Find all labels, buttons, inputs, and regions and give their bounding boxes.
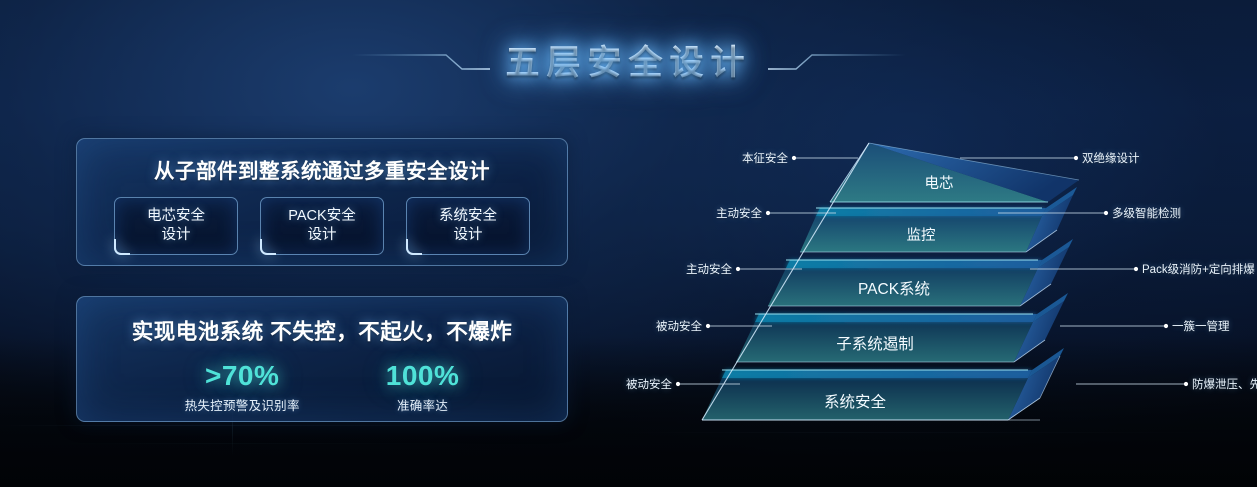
- stat-thermal-warning: >70% 热失控预警及识别率: [185, 360, 300, 414]
- panel-top-heading: 从子部件到整系统通过多重安全设计: [77, 154, 567, 184]
- corner-accent-icon: [406, 239, 422, 255]
- stat-caption: 准确率达: [386, 395, 460, 414]
- design-card-row: 电芯安全 设计 PACK安全 设计 系统安全 设计: [77, 197, 567, 255]
- stat-accuracy: 100% 准确率达: [386, 360, 460, 414]
- pyramid-right-label-4: 一簇一管理: [1172, 318, 1230, 334]
- background-streak: [0, 425, 520, 426]
- slide-background: 五层安全设计 从子部件到整系统通过多重安全设计 电芯安全 设计: [0, 0, 1257, 487]
- title-block: 五层安全设计: [0, 30, 1257, 88]
- stat-caption: 热失控预警及识别率: [185, 395, 300, 414]
- background-streak: [60, 443, 490, 444]
- svg-text:监控: 监控: [907, 227, 936, 244]
- pyramid-left-label-3: 主动安全: [686, 261, 732, 277]
- svg-text:子系统遏制: 子系统遏制: [836, 335, 914, 353]
- design-card-cell[interactable]: 电芯安全 设计: [114, 197, 238, 255]
- panel-bottom-heading: 实现电池系统 不失控，不起火，不爆炸: [77, 315, 567, 346]
- pyramid-right-label-3: Pack级消防+定向排爆: [1142, 261, 1255, 277]
- design-card-pack[interactable]: PACK安全 设计: [260, 197, 384, 255]
- svg-text:PACK系统: PACK系统: [858, 280, 930, 298]
- corner-accent-icon: [114, 239, 130, 255]
- stat-value: 100%: [386, 360, 460, 392]
- corner-accent-icon: [260, 239, 276, 255]
- svg-text:电芯: 电芯: [925, 175, 954, 192]
- pyramid-right-label-1: 双绝缘设计: [1082, 150, 1140, 166]
- pyramid-right-label-5: 防爆泄压、先进液冷: [1192, 376, 1257, 392]
- five-layer-pyramid-diagram: 电芯 监控 PACK系统 子系统遏制 系统安全 本征安全 主动安全 主动安全 被…: [590, 130, 1250, 450]
- title-decoration-right-icon: [768, 42, 908, 76]
- pyramid-left-label-4: 被动安全: [656, 318, 702, 334]
- svg-text:系统安全: 系统安全: [824, 393, 887, 411]
- pyramid-right-label-2: 多级智能检测: [1112, 205, 1181, 221]
- stat-value: >70%: [185, 360, 300, 392]
- pyramid-left-label-1: 本征安全: [742, 150, 788, 166]
- pyramid-tier-1[interactable]: [830, 143, 1079, 202]
- title-decoration-left-icon: [350, 42, 490, 76]
- pyramid-left-label-5: 被动安全: [626, 376, 672, 392]
- design-card-label: 电芯安全 设计: [147, 207, 205, 244]
- battery-safety-panel: 实现电池系统 不失控，不起火，不爆炸 >70% 热失控预警及识别率 100% 准…: [76, 296, 568, 422]
- safety-design-panel: 从子部件到整系统通过多重安全设计 电芯安全 设计 PACK安全 设计 系统安全 …: [76, 138, 568, 266]
- design-card-label: PACK安全 设计: [288, 207, 355, 244]
- stat-row: >70% 热失控预警及识别率 100% 准确率达: [77, 360, 567, 414]
- design-card-label: 系统安全 设计: [439, 207, 497, 244]
- page-title: 五层安全设计: [490, 35, 768, 84]
- pyramid-left-label-2: 主动安全: [716, 205, 762, 221]
- design-card-system[interactable]: 系统安全 设计: [406, 197, 530, 255]
